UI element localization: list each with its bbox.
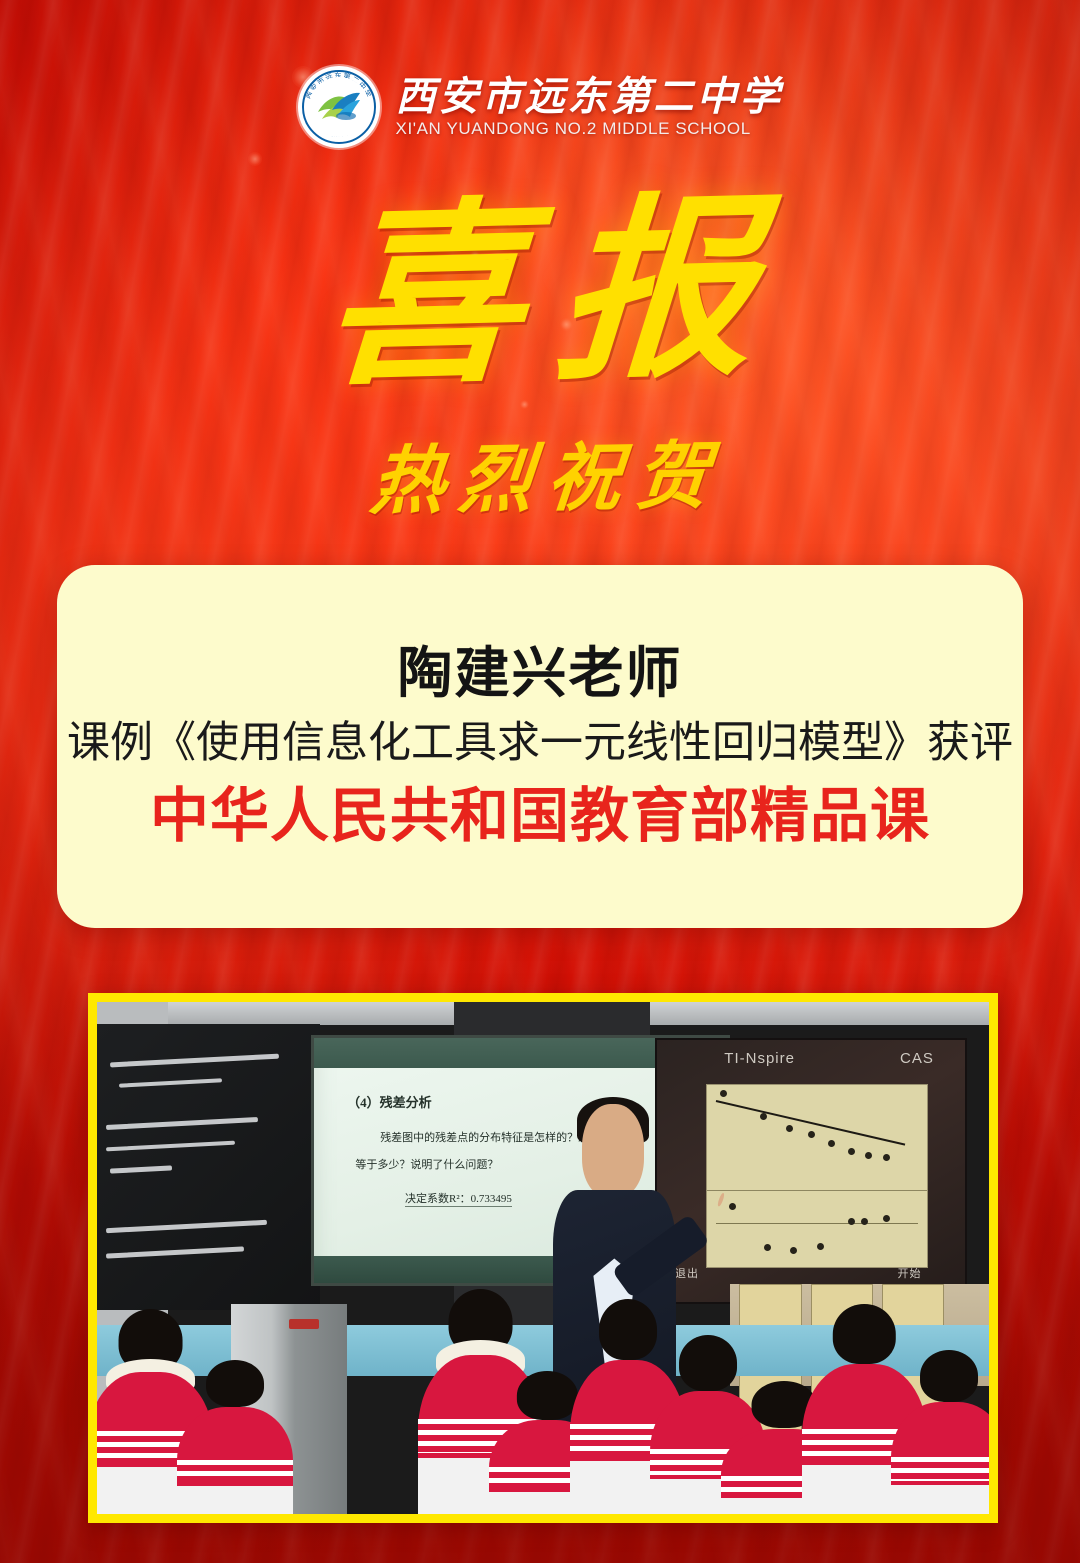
chalk-stroke [119, 1078, 222, 1087]
data-point [720, 1090, 727, 1097]
classroom-photo: 部级精品课 （4）残差分析 残差图中的残差点的分布特征是怎样的？决定系数R 等于… [97, 1002, 989, 1514]
chalk-stroke [106, 1220, 267, 1233]
teacher-name: 陶建兴老师 [397, 639, 682, 708]
regression-line [715, 1100, 904, 1145]
bokeh-dot [248, 152, 262, 166]
course-title: 课例《使用信息化工具求一元线性回归模型》获评 [67, 716, 1013, 772]
residual-plot-lower [707, 1191, 927, 1267]
seal-bird-icon [316, 88, 362, 126]
calculator-home-label: 开始 [898, 1265, 922, 1281]
student-head [833, 1304, 895, 1364]
chalk-stroke [106, 1117, 258, 1130]
data-point [828, 1140, 835, 1147]
student-uniform-lower [891, 1485, 989, 1514]
scatter-plot-upper [707, 1085, 927, 1190]
residual-point [764, 1244, 771, 1251]
residual-point [848, 1218, 855, 1225]
poster-root: 西安市远东第二中学 XIAN YUANDONG NO.2 MIDDLE SCHO… [0, 0, 1080, 1563]
residual-point [729, 1203, 736, 1210]
residual-point [790, 1247, 797, 1254]
blackboard [97, 1024, 320, 1311]
student-head [517, 1371, 577, 1420]
school-seal-bird-icon: 西安市远东第二中学 XIAN YUANDONG NO.2 MIDDLE SCHO… [298, 66, 380, 148]
data-point [808, 1131, 815, 1138]
data-point [865, 1152, 872, 1159]
data-point [760, 1113, 767, 1120]
student-uniform-stripes [891, 1457, 989, 1481]
calculator-display-screen: TI-Nspire CAS [655, 1038, 967, 1304]
announcement-card: 陶建兴老师 课例《使用信息化工具求一元线性回归模型》获评 中华人民共和国教育部精… [57, 565, 1023, 928]
student-head [920, 1350, 978, 1402]
student-figure [891, 1350, 989, 1514]
calculator-brand-label: TI-Nspire [724, 1050, 795, 1067]
residual-point [861, 1218, 868, 1225]
calculator-mode-label: CAS [900, 1050, 934, 1067]
teacher-head [582, 1104, 644, 1197]
classroom-photo-frame: 部级精品课 （4）残差分析 残差图中的残差点的分布特征是怎样的？决定系数R 等于… [88, 993, 998, 1523]
student-head [206, 1360, 264, 1407]
data-point [786, 1125, 793, 1132]
chalk-stroke [110, 1053, 279, 1067]
student-head [599, 1299, 657, 1360]
podium-badge [289, 1319, 319, 1329]
slide-body-line2: 等于多少？说明了什么问题？ [355, 1156, 498, 1172]
school-name-en: XI'AN YUANDONG NO.2 MIDDLE SCHOOL [396, 120, 783, 139]
residual-point [817, 1243, 824, 1250]
data-point [848, 1148, 855, 1155]
chalk-stroke [110, 1165, 173, 1173]
student-uniform-lower [177, 1486, 293, 1514]
slide-body-line3: 决定系数R²：0.733495 [405, 1190, 512, 1207]
student-figure [177, 1360, 293, 1514]
residual-zero-line [716, 1223, 918, 1224]
student-uniform-stripes [177, 1460, 293, 1483]
award-title: 中华人民共和国教育部精品课 [150, 780, 930, 854]
chalk-stroke [106, 1246, 244, 1258]
chalk-stroke [106, 1141, 235, 1152]
scatter-plot-area [706, 1084, 928, 1268]
residual-point [883, 1215, 890, 1222]
data-point [883, 1154, 890, 1161]
slide-heading: （4）残差分析 [347, 1092, 432, 1111]
school-header: 西安市远东第二中学 XIAN YUANDONG NO.2 MIDDLE SCHO… [0, 66, 1080, 148]
headline-xibao: 喜报 [0, 173, 1080, 419]
school-name-cn: 西安市远东第二中学 [396, 76, 783, 118]
